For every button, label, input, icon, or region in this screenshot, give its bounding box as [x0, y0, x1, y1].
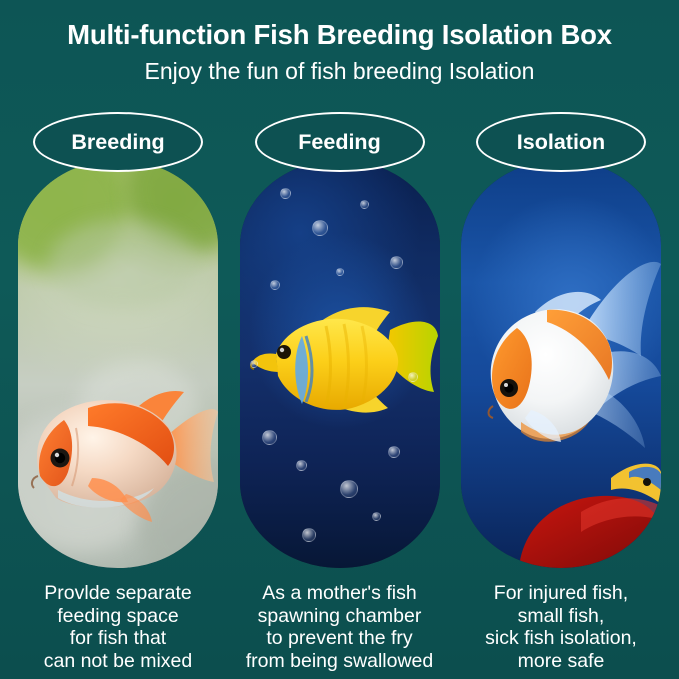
bubble [296, 460, 307, 471]
bubble [390, 256, 403, 269]
poster-header: Multi-function Fish Breeding Isolation B… [0, 0, 679, 84]
bubble [250, 360, 258, 368]
photo-capsule-breeding [18, 160, 218, 568]
goldfish-gravel-photo [18, 160, 218, 568]
bubble [270, 280, 280, 290]
caption-isolation: For injured fish, small fish, sick fish … [485, 582, 637, 672]
bubble [408, 372, 418, 382]
feature-columns: Breeding [0, 112, 679, 672]
feature-column-isolation: Isolation [461, 112, 661, 672]
badge-label: Feeding [298, 130, 380, 155]
caption-breeding: Provlde separate feeding space for fish … [44, 582, 193, 672]
photo-capsule-feeding [240, 160, 440, 568]
page-subtitle: Enjoy the fun of fish breeding Isolation [0, 59, 679, 84]
page-title: Multi-function Fish Breeding Isolation B… [0, 20, 679, 50]
feature-column-feeding: Feeding [240, 112, 440, 672]
goldfish-illustration [18, 160, 218, 568]
oranda-betta-photo [461, 160, 661, 568]
bubble [312, 220, 328, 236]
feature-column-breeding: Breeding [18, 112, 218, 672]
bubble [360, 200, 369, 209]
bubble [302, 528, 316, 542]
bubble [388, 446, 400, 458]
badge-breeding: Breeding [33, 112, 203, 172]
bubble [340, 480, 358, 498]
bubble [280, 188, 291, 199]
photo-capsule-isolation [461, 160, 661, 568]
promo-poster: Multi-function Fish Breeding Isolation B… [0, 0, 679, 679]
caption-feeding: As a mother's fish spawning chamber to p… [246, 582, 434, 672]
yellow-tang-photo [240, 160, 440, 568]
bubble [372, 512, 381, 521]
badge-feeding: Feeding [255, 112, 425, 172]
yellow-tang-illustration [240, 160, 440, 568]
badge-isolation: Isolation [476, 112, 646, 172]
badge-label: Isolation [517, 130, 605, 155]
badge-label: Breeding [71, 130, 164, 155]
bubble [336, 268, 344, 276]
red-betta-illustration [461, 160, 661, 568]
bubble [262, 430, 277, 445]
